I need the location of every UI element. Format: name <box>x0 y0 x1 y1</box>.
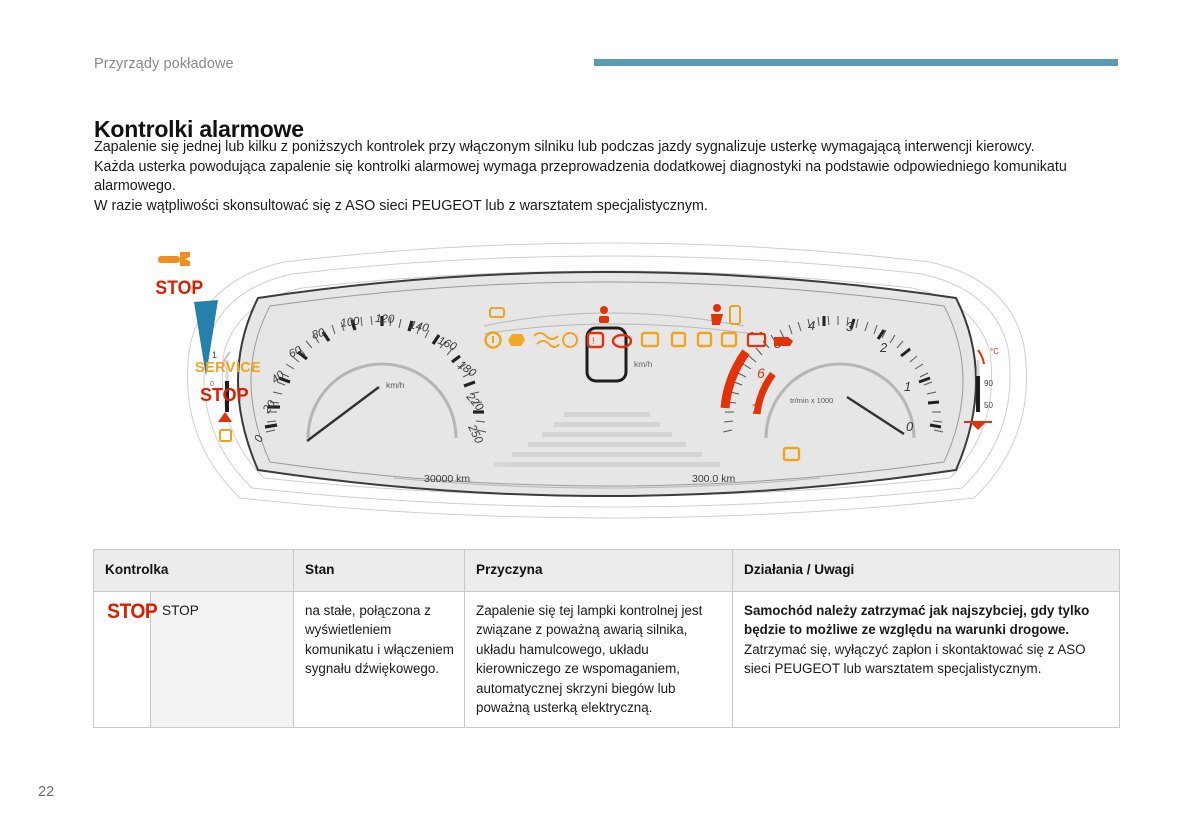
svg-text:3: 3 <box>846 319 854 334</box>
svg-text:7: 7 <box>751 401 760 417</box>
column-header-przyczyna: Przyczyna <box>465 550 733 592</box>
table-header-row: Kontrolka Stan Przyczyna Działania / Uwa… <box>94 550 1120 592</box>
warning-lights-table: Kontrolka Stan Przyczyna Działania / Uwa… <box>93 549 1120 728</box>
header-rule <box>594 59 1118 66</box>
svg-text:120: 120 <box>375 313 395 326</box>
svg-text:2: 2 <box>879 340 888 355</box>
running-head: Przyrządy pokładowe <box>94 56 234 72</box>
svg-text:4: 4 <box>808 318 815 333</box>
intro-paragraph: Zapalenie się jednej lub kilku z poniższ… <box>94 138 1120 216</box>
instrument-cluster-diagram: km/h <box>94 236 1120 526</box>
svg-text:!: ! <box>592 336 595 346</box>
svg-text:6: 6 <box>757 365 765 381</box>
intro-line-2: Każda usterka powodująca zapalenie się k… <box>94 158 1120 197</box>
instrument-cluster-figure: km/h <box>94 236 1120 526</box>
wrench-icon <box>158 252 190 266</box>
temp-gauge-unit: °C <box>990 347 999 356</box>
fuel-gauge-max: 1 <box>212 350 217 360</box>
column-header-stan: Stan <box>294 550 465 592</box>
dzialania-rest-text: Zatrzymać się, wyłączyć zapłon i skontak… <box>744 642 1086 677</box>
warning-stan-cell: na stałe, połączona z wyświetleniem komu… <box>294 591 465 727</box>
odometer-trip: 300.0 km <box>692 473 735 485</box>
warning-name-cell: STOP <box>151 591 294 727</box>
warning-dzialania-cell: Samochód należy zatrzymać jak najszybcie… <box>733 591 1120 727</box>
column-header-kontrolka: Kontrolka <box>94 550 294 592</box>
center-display-unit: km/h <box>634 359 653 369</box>
battery-icon <box>220 430 231 441</box>
odometer-total: 30000 km <box>424 473 470 485</box>
tachometer-unit: tr/min x 1000 <box>790 396 833 405</box>
intro-line-1: Zapalenie się jednej lub kilku z poniższ… <box>94 138 1120 158</box>
column-header-dzialania: Działania / Uwagi <box>733 550 1120 592</box>
page-number: 22 <box>38 784 54 800</box>
dzialania-bold-text: Samochód należy zatrzymać jak najszybcie… <box>744 603 1089 638</box>
warning-icon-cell: STOP <box>94 591 151 727</box>
callout-label-stop-top: STOP <box>155 276 203 298</box>
callout-label-stop-bottom: STOP <box>200 385 249 405</box>
table-row: STOP STOP na stałe, połączona z wyświetl… <box>94 591 1120 727</box>
svg-text:0: 0 <box>906 419 914 434</box>
stop-icon: STOP <box>107 601 157 623</box>
intro-line-3: W razie wątpliwości skonsultować się z A… <box>94 197 1120 217</box>
temp-gauge-low: 50 <box>984 401 993 410</box>
warning-przyczyna-cell: Zapalenie się tej lampki kontrolnej jest… <box>465 591 733 727</box>
svg-text:1: 1 <box>904 379 911 394</box>
callout-label-service: SERVICE <box>195 360 261 376</box>
fuel-low-icon <box>218 412 232 422</box>
speedometer-unit: km/h <box>386 380 405 390</box>
temp-gauge-high: 90 <box>984 379 993 388</box>
